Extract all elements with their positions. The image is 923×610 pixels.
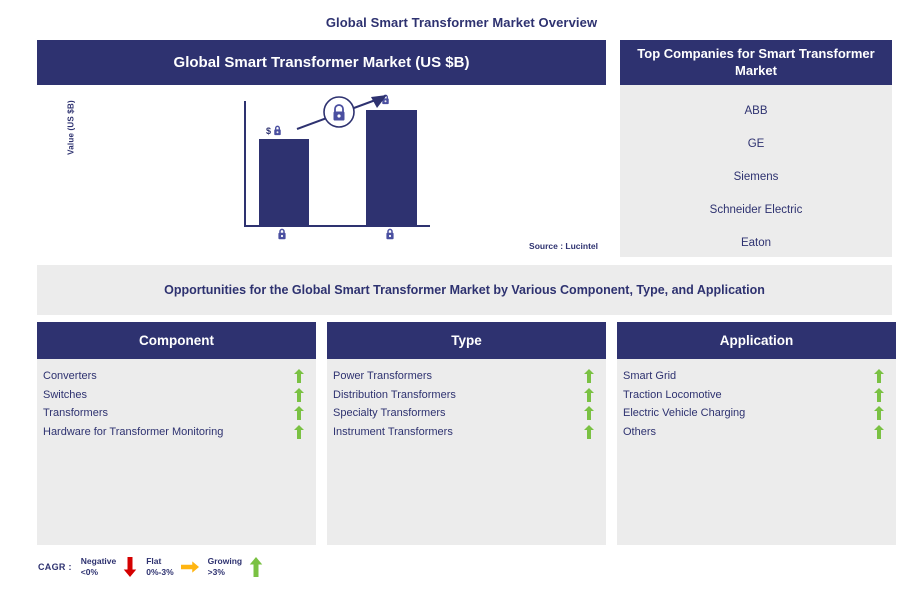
growth-arrow-icon: [295, 91, 415, 136]
cagr-legend-name: Flat: [146, 556, 173, 567]
top-companies-list: ABB GE Siemens Schneider Electric Eaton: [620, 85, 892, 257]
cagr-legend-entry-negative: Negative <0%: [81, 556, 137, 577]
arrow-up-icon: [874, 406, 884, 420]
lock-icon: [277, 228, 287, 240]
list-item: Others: [623, 423, 884, 442]
category-item-label: Power Transformers: [333, 370, 432, 382]
arrow-up-icon: [294, 406, 304, 420]
category-item-label: Others: [623, 426, 656, 438]
list-item: Electric Vehicle Charging: [623, 404, 884, 423]
list-item: Transformers: [43, 404, 304, 423]
category-header: Component: [37, 322, 316, 359]
category-item-label: Electric Vehicle Charging: [623, 407, 745, 419]
cagr-legend-text: Negative <0%: [81, 556, 116, 577]
top-companies-panel: Top Companies for Smart Transformer Mark…: [620, 40, 892, 257]
market-chart-body: Value (US $B) $ $: [37, 85, 606, 257]
chart-x-axis-line: [244, 225, 430, 227]
arrow-up-icon: [874, 369, 884, 383]
category-item-label: Specialty Transformers: [333, 407, 445, 419]
list-item: GE: [620, 127, 892, 160]
category-column-type: Type Power Transformers Distribution Tra…: [327, 322, 606, 545]
category-header: Type: [327, 322, 606, 359]
page-title: Global Smart Transformer Market Overview: [0, 15, 923, 30]
arrow-up-icon: [249, 557, 263, 577]
list-item: Power Transformers: [333, 367, 594, 386]
dollar-sign: $: [266, 126, 271, 136]
lock-icon: [273, 125, 282, 136]
market-chart-header: Global Smart Transformer Market (US $B): [37, 40, 606, 85]
category-column-application: Application Smart Grid Traction Locomoti…: [617, 322, 896, 545]
cagr-legend-title: CAGR :: [38, 562, 72, 572]
arrow-up-icon: [584, 425, 594, 439]
list-item: Specialty Transformers: [333, 404, 594, 423]
cagr-legend-entry-growing: Growing >3%: [208, 556, 263, 577]
list-item: Smart Grid: [623, 367, 884, 386]
chart-y-axis-line: [244, 101, 246, 227]
list-item: Converters: [43, 367, 304, 386]
bar-series-1: [259, 139, 309, 225]
category-item-label: Hardware for Transformer Monitoring: [43, 426, 223, 438]
category-item-list: Converters Switches Transformers Hardwar…: [37, 359, 316, 545]
cagr-legend-range: >3%: [208, 567, 242, 578]
opportunities-banner: Opportunities for the Global Smart Trans…: [37, 265, 892, 315]
list-item: Eaton: [620, 226, 892, 259]
chart-source-note: Source : Lucintel: [529, 241, 598, 251]
list-item: Hardware for Transformer Monitoring: [43, 423, 304, 442]
cagr-legend-entry-flat: Flat 0%-3%: [146, 556, 198, 577]
category-header: Application: [617, 322, 896, 359]
cagr-legend-name: Negative: [81, 556, 116, 567]
arrow-up-icon: [584, 369, 594, 383]
list-item: Siemens: [620, 160, 892, 193]
arrow-up-icon: [584, 406, 594, 420]
top-companies-header: Top Companies for Smart Transformer Mark…: [620, 40, 892, 85]
x-axis-tick-2: [385, 228, 395, 242]
x-axis-tick-1: [277, 228, 287, 242]
cagr-legend-range: 0%-3%: [146, 567, 173, 578]
arrow-up-icon: [874, 425, 884, 439]
list-item: Distribution Transformers: [333, 386, 594, 405]
category-item-label: Traction Locomotive: [623, 389, 722, 401]
category-item-label: Converters: [43, 370, 97, 382]
category-item-label: Instrument Transformers: [333, 426, 453, 438]
cagr-legend-range: <0%: [81, 567, 116, 578]
bar-chart: Value (US $B) $ $: [37, 85, 606, 257]
category-item-label: Transformers: [43, 407, 108, 419]
opportunities-banner-text: Opportunities for the Global Smart Trans…: [164, 283, 765, 297]
arrow-up-icon: [294, 388, 304, 402]
arrow-up-icon: [584, 388, 594, 402]
list-item: ABB: [620, 94, 892, 127]
category-item-label: Distribution Transformers: [333, 389, 456, 401]
category-item-label: Smart Grid: [623, 370, 676, 382]
list-item: Switches: [43, 386, 304, 405]
list-item: Instrument Transformers: [333, 423, 594, 442]
arrow-down-icon: [123, 557, 137, 577]
category-item-list: Smart Grid Traction Locomotive Electric …: [617, 359, 896, 545]
chart-y-axis-label: Value (US $B): [67, 88, 76, 168]
cagr-legend: CAGR : Negative <0% Flat 0%-3% Growing >…: [38, 556, 263, 577]
arrow-up-icon: [294, 425, 304, 439]
category-item-label: Switches: [43, 389, 87, 401]
lock-icon: [385, 228, 395, 240]
arrow-right-icon: [181, 561, 199, 573]
category-column-component: Component Converters Switches Transforme…: [37, 322, 316, 545]
cagr-legend-text: Flat 0%-3%: [146, 556, 173, 577]
bar-value-label-1: $: [266, 125, 282, 136]
list-item: Schneider Electric: [620, 193, 892, 226]
cagr-legend-text: Growing >3%: [208, 556, 242, 577]
market-chart-panel: Global Smart Transformer Market (US $B) …: [37, 40, 606, 257]
arrow-up-icon: [294, 369, 304, 383]
arrow-up-icon: [874, 388, 884, 402]
cagr-legend-name: Growing: [208, 556, 242, 567]
list-item: Traction Locomotive: [623, 386, 884, 405]
category-item-list: Power Transformers Distribution Transfor…: [327, 359, 606, 545]
